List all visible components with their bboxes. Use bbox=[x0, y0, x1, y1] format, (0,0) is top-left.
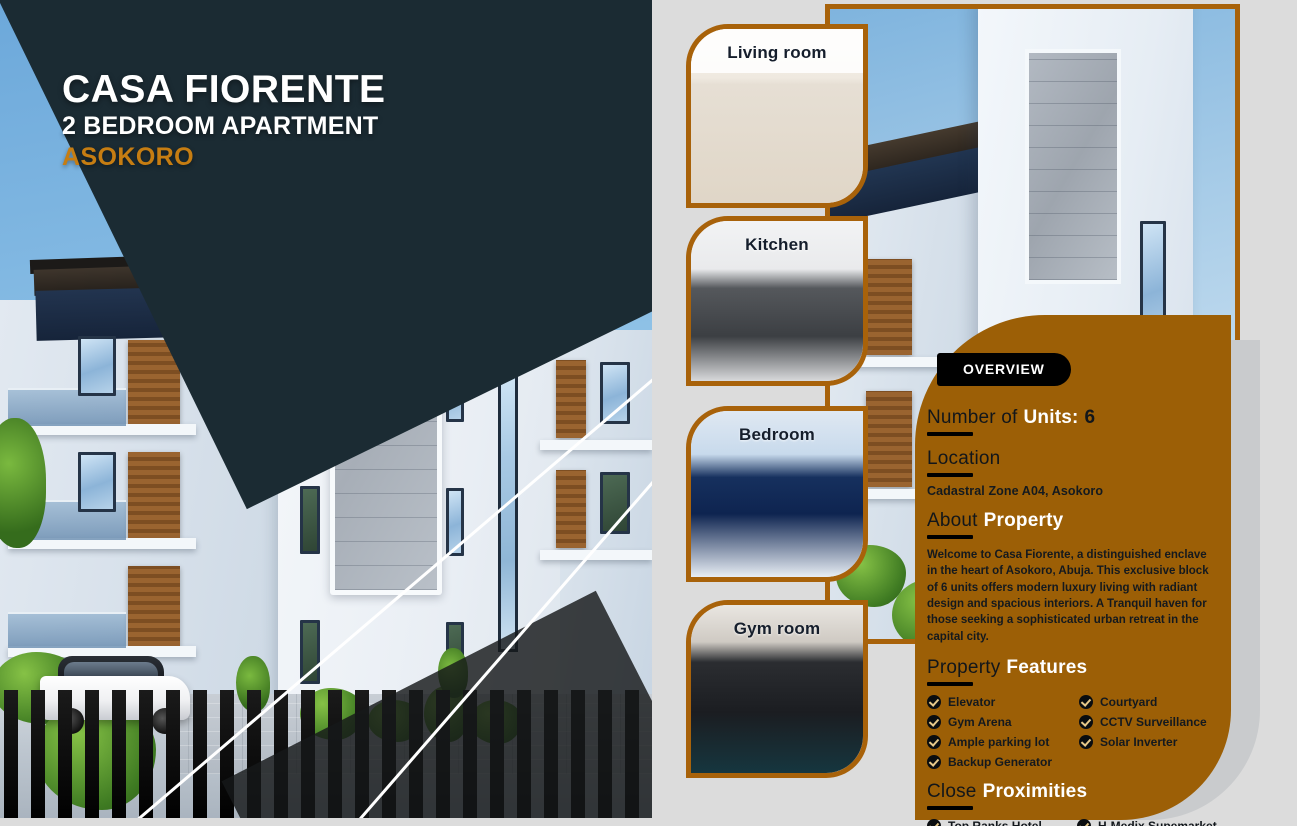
check-icon bbox=[1077, 819, 1091, 826]
heading-underline bbox=[927, 432, 973, 436]
window bbox=[300, 486, 320, 554]
features-block: Property Features Elevator Courtyard bbox=[927, 657, 1217, 769]
check-icon bbox=[1079, 695, 1093, 709]
feature-item: Gym Arena bbox=[927, 715, 1079, 729]
about-heading-light: About bbox=[927, 510, 978, 532]
window bbox=[300, 620, 320, 684]
about-heading: About Property bbox=[927, 510, 1217, 532]
thumb-label: Kitchen bbox=[691, 235, 863, 255]
units-heading: Number of Units: 6 bbox=[927, 407, 1217, 429]
features-heading-light: Property bbox=[927, 657, 1000, 679]
main-roof-railing bbox=[273, 219, 564, 283]
stone-texture bbox=[335, 315, 437, 590]
window bbox=[446, 488, 464, 556]
wood-slat-panel bbox=[556, 470, 586, 548]
check-icon bbox=[927, 715, 941, 729]
hero-subtitle: 2 BEDROOM APARTMENT bbox=[62, 112, 386, 141]
heading-underline bbox=[927, 535, 973, 539]
proximities-heading-light: Close bbox=[927, 781, 977, 803]
window bbox=[78, 452, 116, 512]
feature-label: Courtyard bbox=[1100, 695, 1157, 709]
thumb-living-room[interactable]: Living room bbox=[686, 24, 868, 208]
location-block: Location Cadastral Zone A04, Asokoro bbox=[927, 448, 1217, 498]
feature-item: Courtyard bbox=[1079, 695, 1217, 709]
overview-panel: OVERVIEW Number of Units: 6 Location Cad… bbox=[915, 315, 1231, 820]
feature-label: Solar Inverter bbox=[1100, 735, 1177, 749]
features-heading-bold: Features bbox=[1006, 657, 1087, 679]
features-heading: Property Features bbox=[927, 657, 1217, 679]
proximity-label: H-Medix Supemarket bbox=[1098, 819, 1217, 826]
feature-label: Elevator bbox=[948, 695, 995, 709]
location-heading: Location bbox=[927, 448, 1217, 470]
units-block: Number of Units: 6 bbox=[927, 407, 1217, 436]
proximity-item: H-Medix Supemarket bbox=[1077, 819, 1217, 826]
stone-cladding-panel bbox=[330, 310, 442, 595]
heading-underline bbox=[927, 806, 973, 810]
feature-item: Elevator bbox=[927, 695, 1079, 709]
window bbox=[300, 352, 320, 420]
page-title: CASA FIORENTE bbox=[62, 70, 386, 111]
units-value: 6 bbox=[1085, 407, 1096, 429]
location-heading-text: Location bbox=[927, 448, 1000, 470]
heading-underline bbox=[927, 682, 973, 686]
wood-slat-panel bbox=[556, 360, 586, 438]
overview-tag: OVERVIEW bbox=[937, 353, 1071, 386]
wood-slat-panel bbox=[128, 452, 180, 538]
window bbox=[446, 354, 464, 422]
check-icon bbox=[927, 735, 941, 749]
balcony-railing bbox=[8, 612, 126, 648]
feature-label: CCTV Surveillance bbox=[1100, 715, 1207, 729]
hero-title-block: CASA FIORENTE 2 BEDROOM APARTMENT ASOKOR… bbox=[62, 70, 386, 171]
feature-item: CCTV Surveillance bbox=[1079, 715, 1217, 729]
balcony-slab bbox=[540, 440, 652, 450]
thumb-label: Living room bbox=[691, 43, 863, 63]
check-icon bbox=[927, 695, 941, 709]
units-heading-light: Number of bbox=[927, 407, 1018, 429]
proximities-block: Close Proximities Top Ranks Hotel H-Medi… bbox=[927, 781, 1217, 826]
hero-location-tag: ASOKORO bbox=[62, 143, 386, 172]
overview-content: Number of Units: 6 Location Cadastral Zo… bbox=[927, 395, 1217, 826]
feature-label: Ample parking lot bbox=[948, 735, 1049, 749]
hero-image: CASA FIORENTE 2 BEDROOM APARTMENT ASOKOR… bbox=[0, 0, 652, 818]
about-block: About Property Welcome to Casa Fiorente,… bbox=[927, 510, 1217, 645]
heading-underline bbox=[927, 473, 973, 477]
balcony-slab bbox=[540, 550, 652, 560]
wood-slat-panel bbox=[128, 340, 180, 424]
proximity-label: Top Ranks Hotel bbox=[948, 819, 1042, 826]
location-value: Cadastral Zone A04, Asokoro bbox=[927, 484, 1217, 498]
check-icon bbox=[927, 755, 941, 769]
about-text: Welcome to Casa Fiorente, a distinguishe… bbox=[927, 547, 1217, 645]
proximities-heading-bold: Proximities bbox=[983, 781, 1088, 803]
room-thumbnail-column: Living room Kitchen Bedroom Gym room bbox=[686, 0, 876, 826]
check-icon bbox=[1079, 735, 1093, 749]
features-list: Elevator Courtyard Gym Arena CCTV Survei… bbox=[927, 695, 1217, 769]
proximities-heading: Close Proximities bbox=[927, 781, 1217, 803]
left-roof-railing bbox=[35, 285, 258, 341]
feature-item: Solar Inverter bbox=[1079, 735, 1217, 749]
thumb-label: Bedroom bbox=[691, 425, 863, 445]
feature-label: Backup Generator bbox=[948, 755, 1052, 769]
check-icon bbox=[1079, 715, 1093, 729]
wood-slat-panel bbox=[128, 566, 180, 646]
stairwell-glazing bbox=[498, 352, 518, 652]
proximities-list: Top Ranks Hotel H-Medix Supemarket Ultra… bbox=[927, 819, 1217, 826]
property-brochure: CASA FIORENTE 2 BEDROOM APARTMENT ASOKOR… bbox=[0, 0, 1297, 826]
thumb-gym-room[interactable]: Gym room bbox=[686, 600, 868, 778]
window bbox=[600, 362, 630, 424]
photo-stone-cladding bbox=[1025, 49, 1121, 284]
proximity-item: Top Ranks Hotel bbox=[927, 819, 1077, 826]
thumb-kitchen[interactable]: Kitchen bbox=[686, 216, 868, 386]
check-icon bbox=[927, 819, 941, 826]
thumb-label: Gym room bbox=[691, 619, 863, 639]
thumb-bedroom[interactable]: Bedroom bbox=[686, 406, 868, 582]
feature-item: Backup Generator bbox=[927, 755, 1079, 769]
units-heading-bold: Units: bbox=[1024, 407, 1079, 429]
window bbox=[78, 336, 116, 396]
features-grid-spacer bbox=[1079, 755, 1217, 769]
feature-label: Gym Arena bbox=[948, 715, 1012, 729]
about-heading-bold: Property bbox=[984, 510, 1064, 532]
feature-item: Ample parking lot bbox=[927, 735, 1079, 749]
window bbox=[600, 472, 630, 534]
